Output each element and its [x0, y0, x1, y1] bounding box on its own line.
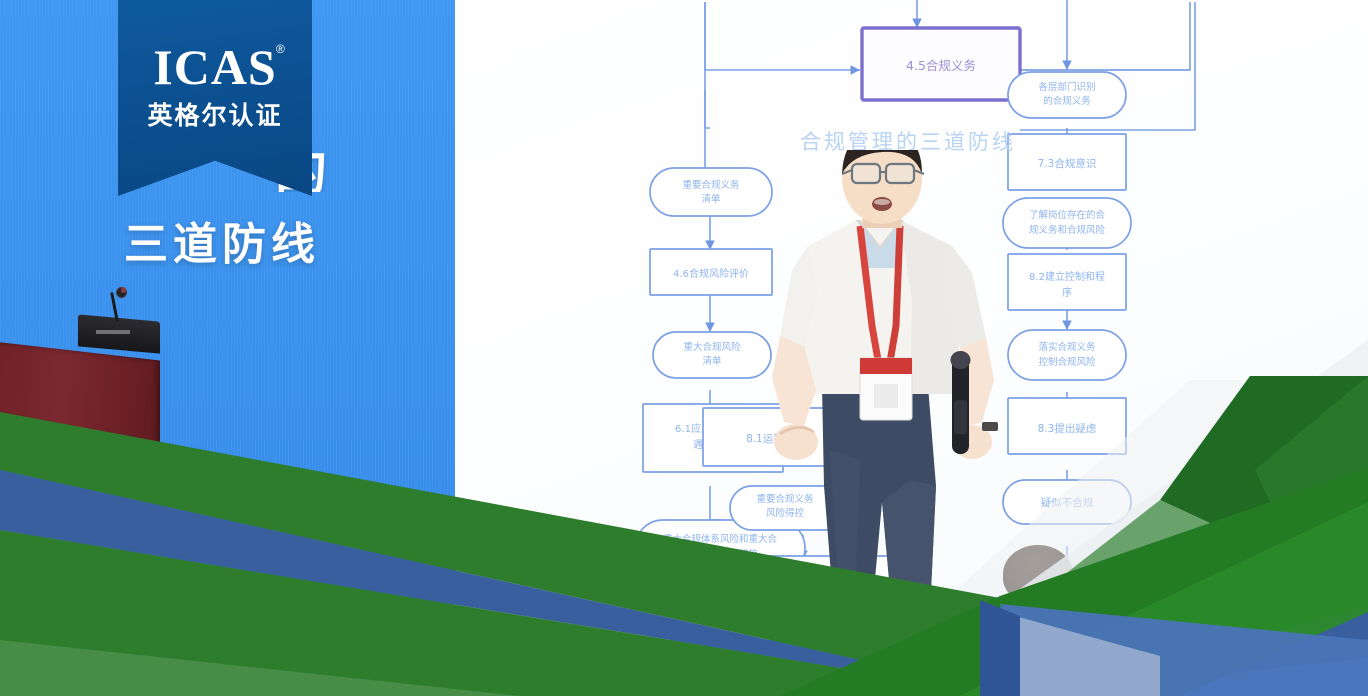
podium: [0, 340, 160, 471]
svg-text:的合规义务: 的合规义务: [1043, 95, 1091, 107]
podium-control-strip: [96, 330, 130, 334]
svg-text:重大合规风险: 重大合规风险: [683, 341, 741, 353]
svg-text:序: 序: [1062, 286, 1072, 299]
svg-text:了解岗位存在的合: 了解岗位存在的合: [1029, 209, 1106, 221]
node-label-suspect: 疑似不合规: [1041, 496, 1094, 509]
podium-microphone-tip: [121, 287, 126, 293]
node-label-45: 4.5合规义务: [906, 58, 976, 73]
audience-head: [1003, 545, 1073, 603]
wall-headline-line2: 三道防线: [124, 208, 320, 272]
audience-head: [618, 536, 684, 592]
svg-text:8.2建立控制和程: 8.2建立控制和程: [1029, 270, 1105, 283]
svg-text:规风险的应对措施: 规风险的应对措施: [682, 548, 759, 560]
icas-chinese-name: 英格尔认证: [118, 96, 312, 132]
registered-trademark-icon: ®: [276, 42, 285, 56]
svg-text:控制合规风险: 控制合规风险: [1038, 356, 1096, 368]
node-label-46: 4.6合规风险评价: [673, 267, 749, 280]
svg-text:清单: 清单: [701, 193, 721, 205]
svg-text:各层部门识别: 各层部门识别: [1038, 81, 1095, 93]
node-label-83: 8.3提出疑虑: [1038, 422, 1097, 435]
conference-photo: 4.5合规义务 重要合规义务 清单 4.6合规风险评价 重大合规风险 清单 6.…: [0, 0, 1368, 696]
svg-text:清单: 清单: [702, 355, 722, 367]
svg-text:落实合规义务: 落实合规义务: [1038, 341, 1096, 353]
svg-text:重要合规义务: 重要合规义务: [682, 179, 740, 191]
svg-text:规义务和合规风险: 规义务和合规风险: [1029, 224, 1106, 236]
node-label-73: 7.3合规意识: [1038, 157, 1097, 170]
speaker-presenter: [760, 150, 1010, 620]
audience-head: [1320, 548, 1368, 600]
audience-head: [740, 558, 804, 610]
